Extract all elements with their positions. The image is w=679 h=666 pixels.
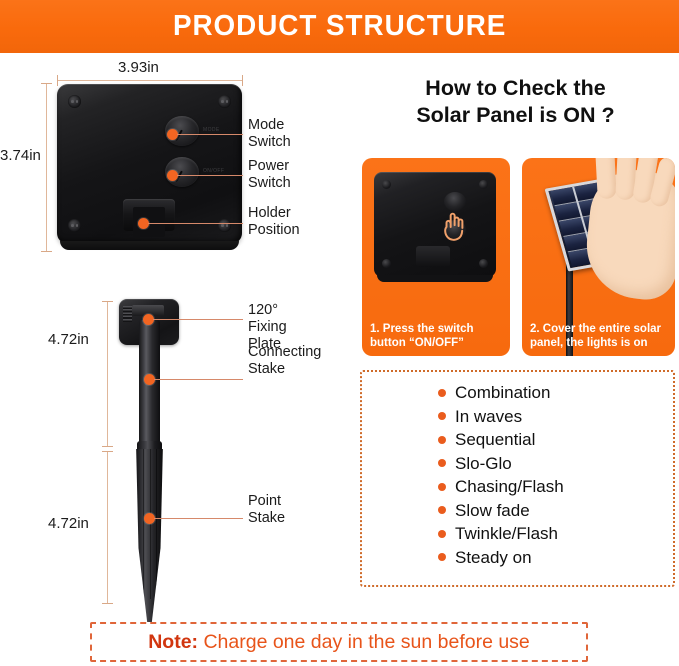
dimension-connecting-tick-bottom	[102, 446, 113, 447]
list-item: Slow fade	[438, 499, 564, 523]
screw-icon	[68, 95, 81, 108]
mode-label: Chasing/Flash	[455, 477, 564, 496]
dimension-connecting-stake-line	[107, 301, 108, 446]
note-body: Charge one day in the sun before use	[198, 631, 530, 653]
mode-label: Slo-Glo	[455, 454, 512, 473]
list-item: Sequential	[438, 428, 564, 452]
howto-card-caption: 1. Press the switch button “ON/OFF”	[370, 323, 504, 350]
pointing-hand-icon	[440, 210, 467, 244]
howto-card-press-switch: 1. Press the switch button “ON/OFF”	[362, 158, 510, 356]
lighting-modes-list: Combination In waves Sequential Slo-Glo …	[438, 381, 564, 569]
screw-icon	[218, 95, 231, 108]
list-item: Chasing/Flash	[438, 475, 564, 499]
list-item: Twinkle/Flash	[438, 522, 564, 546]
howto-heading: How to Check the Solar Panel is ON ?	[352, 75, 679, 129]
dimension-height-tick-bottom	[41, 251, 52, 252]
screw-icon	[382, 259, 391, 268]
callout-leader-holder-position	[148, 223, 243, 224]
list-item: In waves	[438, 405, 564, 429]
page-title: PRODUCT STRUCTURE	[173, 12, 506, 41]
howto-heading-line1: How to Check the	[352, 75, 679, 102]
callout-leader-power-switch	[177, 175, 243, 176]
screw-icon	[479, 259, 488, 268]
list-item: Slo-Glo	[438, 452, 564, 476]
bullet-icon	[438, 436, 446, 444]
bullet-icon	[438, 553, 446, 561]
dimension-height-tick-top	[41, 83, 52, 84]
dimension-connecting-tick-top	[102, 301, 113, 302]
list-item: Steady on	[438, 546, 564, 570]
dimension-height-label: 3.74in	[0, 147, 41, 164]
note-text: Note: Charge one day in the sun before u…	[148, 631, 530, 654]
callout-leader-fixing-plate	[153, 319, 243, 320]
screw-icon	[68, 219, 81, 232]
bullet-icon	[438, 483, 446, 491]
callout-power-switch: Power Switch	[248, 158, 291, 192]
callout-leader-mode-switch	[177, 134, 243, 135]
holder-slot	[123, 199, 175, 231]
header-banner: PRODUCT STRUCTURE	[0, 0, 679, 53]
lighting-modes-box: Combination In waves Sequential Slo-Glo …	[360, 370, 675, 587]
solar-panel-housing: MODE ON/OFF	[57, 84, 242, 244]
mode-label: Sequential	[455, 430, 535, 449]
fixing-plate-ribs	[123, 306, 132, 322]
callout-holder-position: Holder Position	[248, 205, 300, 239]
dimension-connecting-stake-label: 4.72in	[48, 331, 89, 348]
dimension-width-tick-left	[57, 75, 58, 86]
bullet-icon	[438, 459, 446, 467]
bullet-icon	[438, 412, 446, 420]
mode-switch-marking: MODE	[203, 127, 220, 133]
mode-label: In waves	[455, 407, 522, 426]
dimension-point-stake-line	[107, 451, 108, 603]
screw-icon	[218, 219, 231, 232]
screw-icon	[479, 180, 488, 189]
dimension-point-tick-top	[102, 451, 113, 452]
bullet-icon	[438, 530, 446, 538]
solar-panel-illustration	[526, 166, 674, 316]
howto-card-caption: 2. Cover the entire solar panel, the lig…	[530, 323, 669, 350]
power-switch-marking: ON/OFF	[203, 168, 224, 174]
dimension-width-tick-right	[242, 75, 243, 86]
mini-mode-switch-knob	[444, 192, 466, 211]
screw-icon	[382, 180, 391, 189]
mode-label: Combination	[455, 383, 550, 402]
mode-label: Twinkle/Flash	[455, 524, 558, 543]
dimension-width-label: 3.93in	[118, 59, 159, 76]
callout-mode-switch: Mode Switch	[248, 117, 291, 151]
mode-label: Steady on	[455, 548, 532, 567]
dimension-point-stake-label: 4.72in	[48, 515, 89, 532]
note-prefix: Note:	[148, 631, 198, 653]
howto-heading-line2: Solar Panel is ON ?	[352, 102, 679, 129]
callout-connecting-stake: Connecting Stake	[248, 344, 321, 378]
callout-point-stake: Point Stake	[248, 493, 285, 527]
list-item: Combination	[438, 381, 564, 405]
point-stake-spike	[135, 449, 164, 629]
callout-leader-connecting-stake	[154, 379, 243, 380]
product-diagram-column: 3.93in 3.74in MODE ON/OFF Mode Switch Po…	[0, 53, 352, 613]
howto-card-cover-panel: 2. Cover the entire solar panel, the lig…	[522, 158, 675, 356]
note-banner: Note: Charge one day in the sun before u…	[90, 622, 588, 662]
mini-solar-housing	[374, 172, 496, 277]
howto-column: How to Check the Solar Panel is ON ? 1. …	[352, 53, 679, 613]
dimension-width-line	[57, 80, 243, 81]
bullet-icon	[438, 389, 446, 397]
dimension-point-tick-bottom	[102, 603, 113, 604]
mode-label: Slow fade	[455, 501, 530, 520]
mini-holder-slot	[416, 246, 450, 267]
callout-leader-point-stake	[154, 518, 243, 519]
bullet-icon	[438, 506, 446, 514]
dimension-height-line	[46, 83, 47, 251]
